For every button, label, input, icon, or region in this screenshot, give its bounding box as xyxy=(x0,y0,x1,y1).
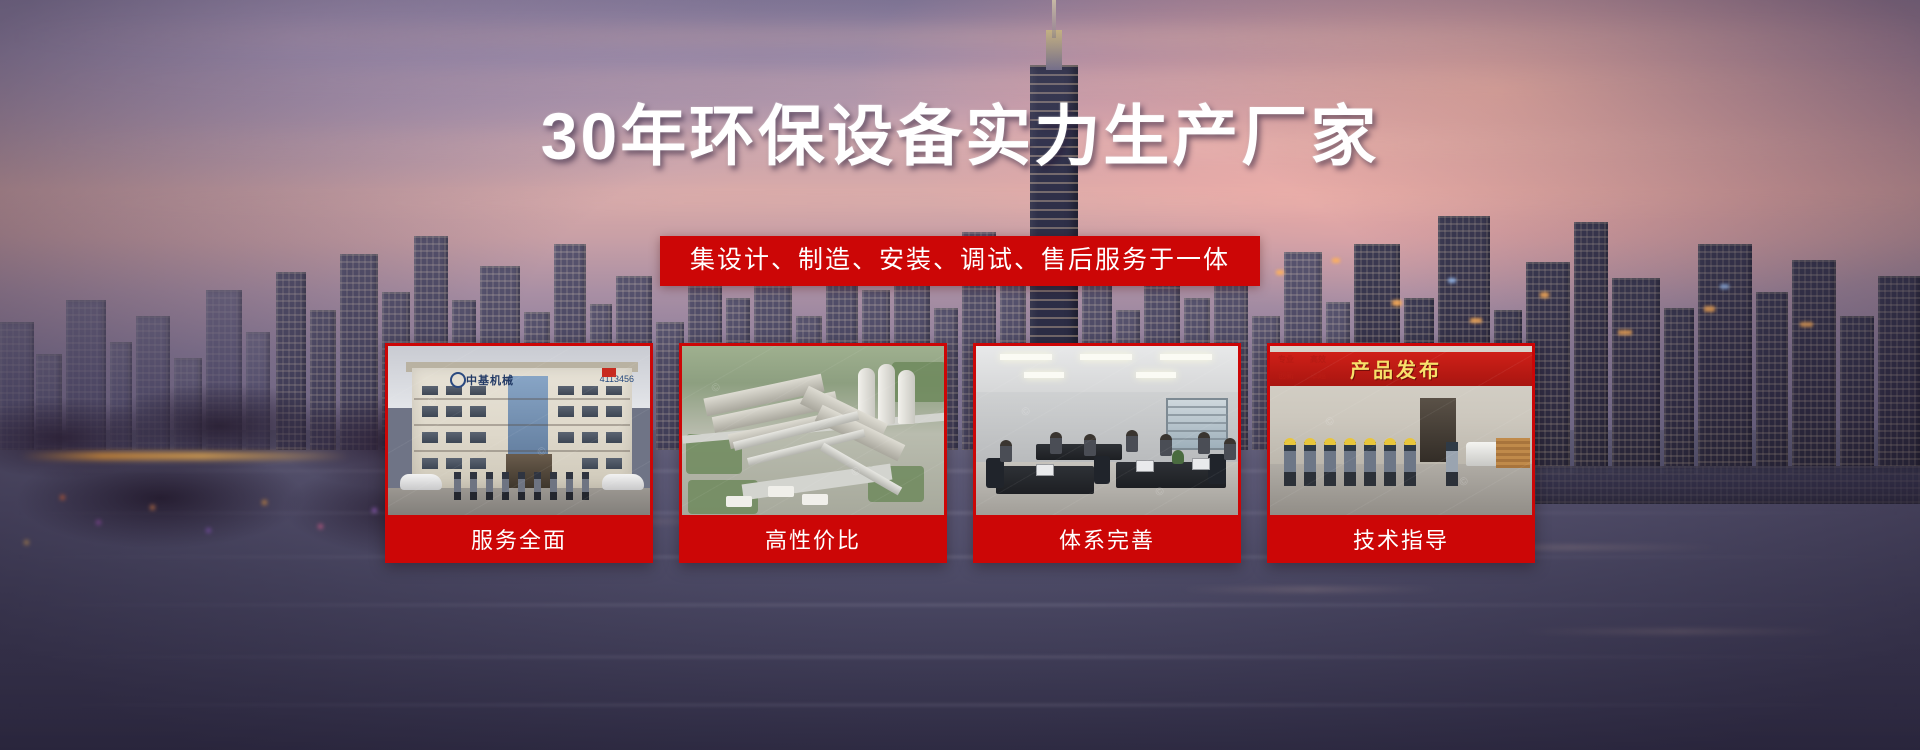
building-signage-text: 中基机械 xyxy=(466,372,514,388)
card-label: 高性价比 xyxy=(679,518,947,563)
feature-card-list: 中基机械 4113456 © xyxy=(385,343,1535,563)
page-title: 30年环保设备实力生产厂家 xyxy=(0,103,1920,169)
card-label: 技术指导 xyxy=(1267,518,1535,563)
flag-icon xyxy=(602,368,616,377)
feature-card[interactable]: © © 体系完善 xyxy=(973,343,1241,563)
card-photo-office: © © xyxy=(973,343,1241,518)
workshop-side-text: 卓越 xyxy=(1310,370,1326,381)
card-label: 服务全面 xyxy=(385,518,653,563)
workshop-side-text: 专业 xyxy=(1278,354,1294,365)
hero-banner: 30年环保设备实力生产厂家 集设计、制造、安装、调试、售后服务于一体 xyxy=(0,0,1920,750)
workshop-side-text: 创新 xyxy=(1278,370,1294,381)
banner-content: 30年环保设备实力生产厂家 集设计、制造、安装、调试、售后服务于一体 xyxy=(0,0,1920,750)
feature-card[interactable]: 产品发布 专业 高效 创新 卓越 xyxy=(1267,343,1535,563)
card-photo-headquarters: 中基机械 4113456 © xyxy=(385,343,653,518)
feature-card[interactable]: 中基机械 4113456 © xyxy=(385,343,653,563)
feature-card[interactable]: © © 高性价比 xyxy=(679,343,947,563)
company-logo-icon xyxy=(450,372,466,388)
card-photo-workshop: 产品发布 专业 高效 创新 卓越 xyxy=(1267,343,1535,518)
workshop-banner-text: 产品发布 xyxy=(1350,354,1442,383)
card-label: 体系完善 xyxy=(973,518,1241,563)
workshop-side-text: 高效 xyxy=(1310,354,1326,365)
subtitle-badge: 集设计、制造、安装、调试、售后服务于一体 xyxy=(660,236,1260,286)
card-photo-plant: © © xyxy=(679,343,947,518)
